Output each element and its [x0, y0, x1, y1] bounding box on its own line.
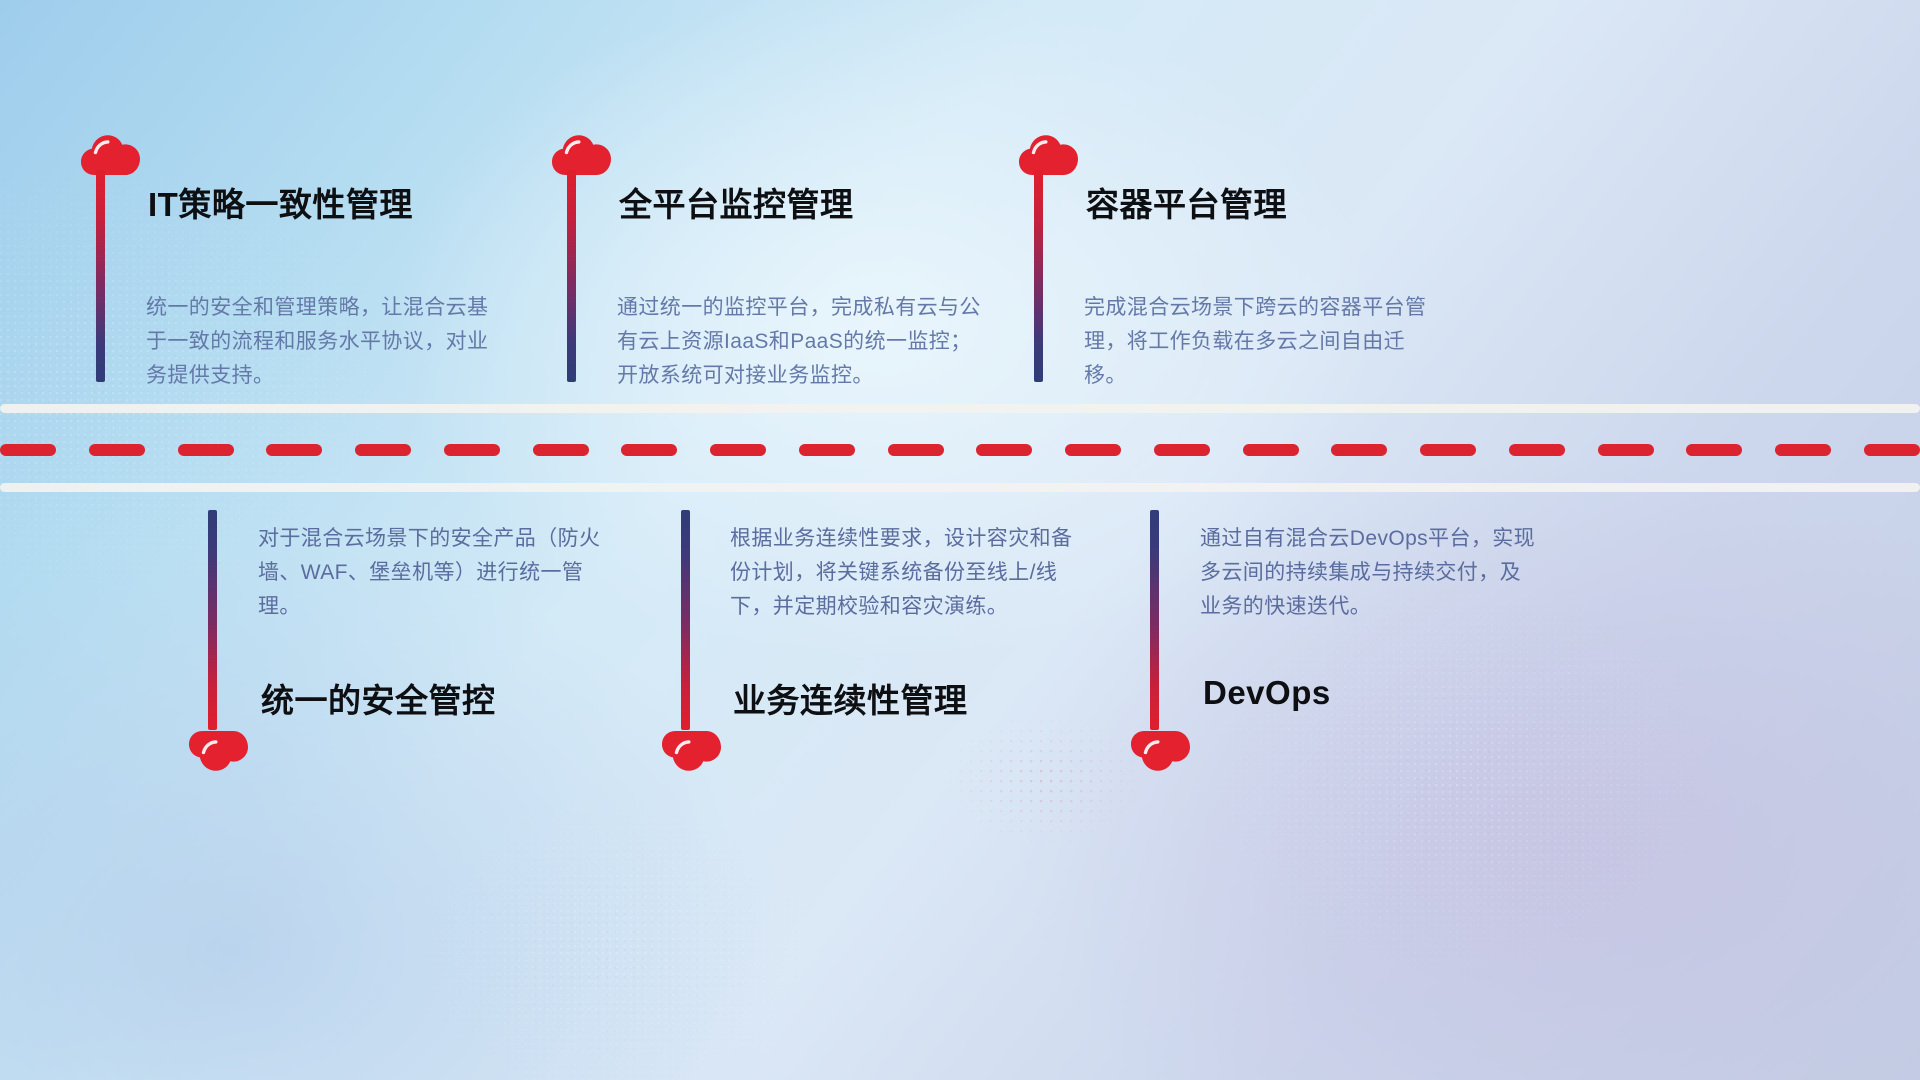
bottom-column-3-title: DevOps	[1203, 674, 1331, 712]
cloud-icon	[1130, 730, 1192, 776]
divider-dash	[1331, 444, 1387, 456]
top-column-3-body: 完成混合云场景下跨云的容器平台管理，将工作负载在多云之间自由迁移。	[1084, 291, 1444, 393]
divider-dash	[1509, 444, 1565, 456]
top-column-2-title: 全平台监控管理	[619, 178, 854, 226]
stem-line-2	[567, 170, 576, 382]
stem-line-1	[96, 170, 105, 382]
divider-dash	[533, 444, 589, 456]
divider-dash	[1065, 444, 1121, 456]
divider-dash	[89, 444, 145, 456]
divider-dash	[1864, 444, 1920, 456]
top-column-1-body: 统一的安全和管理策略，让混合云基于一致的流程和服务水平协议，对业务提供支持。	[146, 291, 496, 393]
cloud-icon	[80, 130, 142, 176]
divider-dash	[799, 444, 855, 456]
top-column-2-body: 通过统一的监控平台，完成私有云与公有云上资源IaaS和PaaS的统一监控；开放系…	[617, 291, 987, 393]
divider-dash	[178, 444, 234, 456]
divider-dash	[710, 444, 766, 456]
stem-line-4	[208, 510, 217, 730]
stem-line-5	[681, 510, 690, 730]
divider-dash	[1154, 444, 1210, 456]
bottom-column-2-body: 根据业务连续性要求，设计容灾和备份计划，将关键系统备份至线上/线下，并定期校验和…	[730, 522, 1080, 624]
divider-dash	[355, 444, 411, 456]
bottom-column-1-body: 对于混合云场景下的安全产品（防火墙、WAF、堡垒机等）进行统一管理。	[258, 522, 608, 624]
divider-dash	[621, 444, 677, 456]
bottom-column-3-body: 通过自有混合云DevOps平台，实现多云间的持续集成与持续交付，及业务的快速迭代…	[1200, 522, 1540, 624]
infographic-canvas: IT策略一致性管理 统一的安全和管理策略，让混合云基于一致的流程和服务水平协议，…	[0, 0, 1920, 1080]
divider-dash	[976, 444, 1032, 456]
cloud-icon	[188, 730, 250, 776]
divider-dash	[888, 444, 944, 456]
cloud-icon	[551, 130, 613, 176]
bottom-column-2-title: 业务连续性管理	[733, 674, 968, 722]
top-column-3-title: 容器平台管理	[1086, 178, 1287, 226]
divider-dash	[1598, 444, 1654, 456]
divider-dash	[1775, 444, 1831, 456]
bottom-column-1-title: 统一的安全管控	[261, 674, 496, 722]
top-column-1-title: IT策略一致性管理	[148, 178, 413, 226]
stem-line-6	[1150, 510, 1159, 730]
stem-line-3	[1034, 170, 1043, 382]
divider-rule-top	[0, 404, 1920, 413]
divider-rule-bottom	[0, 483, 1920, 492]
divider-dash	[266, 444, 322, 456]
divider-dash	[1420, 444, 1476, 456]
cloud-icon	[661, 730, 723, 776]
cloud-icon	[1018, 130, 1080, 176]
divider-dash	[1686, 444, 1742, 456]
divider-dash	[0, 444, 56, 456]
divider-dash	[1243, 444, 1299, 456]
divider-dash	[444, 444, 500, 456]
